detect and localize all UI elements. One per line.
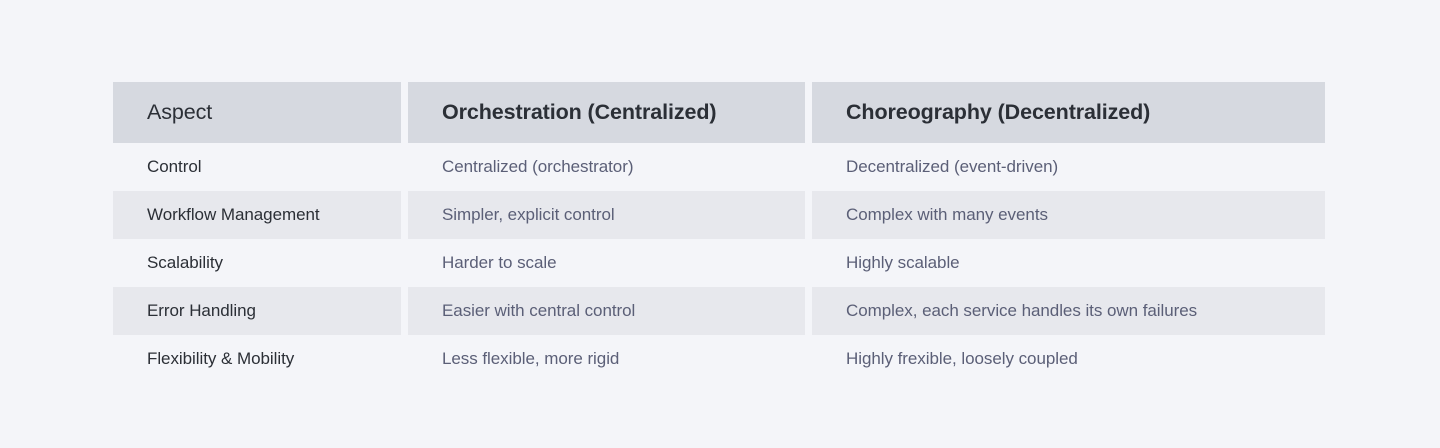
table-row: Control Centralized (orchestrator) Decen…: [113, 143, 1325, 191]
cell-choreography: Complex, each service handles its own fa…: [812, 287, 1325, 335]
cell-aspect: Scalability: [113, 239, 401, 287]
table-row: Flexibility & Mobility Less flexible, mo…: [113, 335, 1325, 383]
cell-orchestration: Easier with central control: [408, 287, 805, 335]
column-header-aspect: Aspect: [113, 82, 401, 143]
cell-choreography: Decentralized (event-driven): [812, 143, 1325, 191]
column-header-choreography: Choreography (Decentralized): [812, 82, 1325, 143]
cell-aspect: Workflow Management: [113, 191, 401, 239]
cell-aspect: Control: [113, 143, 401, 191]
cell-choreography: Highly scalable: [812, 239, 1325, 287]
cell-orchestration: Simpler, explicit control: [408, 191, 805, 239]
cell-aspect: Error Handling: [113, 287, 401, 335]
table-row: Workflow Management Simpler, explicit co…: [113, 191, 1325, 239]
cell-orchestration: Centralized (orchestrator): [408, 143, 805, 191]
cell-aspect: Flexibility & Mobility: [113, 335, 401, 383]
table-row: Error Handling Easier with central contr…: [113, 287, 1325, 335]
cell-choreography: Highly frexible, loosely coupled: [812, 335, 1325, 383]
column-header-orchestration: Orchestration (Centralized): [408, 82, 805, 143]
cell-orchestration: Harder to scale: [408, 239, 805, 287]
cell-orchestration: Less flexible, more rigid: [408, 335, 805, 383]
table-row: Scalability Harder to scale Highly scala…: [113, 239, 1325, 287]
comparison-table: Aspect Orchestration (Centralized) Chore…: [113, 82, 1325, 383]
table-header-row: Aspect Orchestration (Centralized) Chore…: [113, 82, 1325, 143]
cell-choreography: Complex with many events: [812, 191, 1325, 239]
